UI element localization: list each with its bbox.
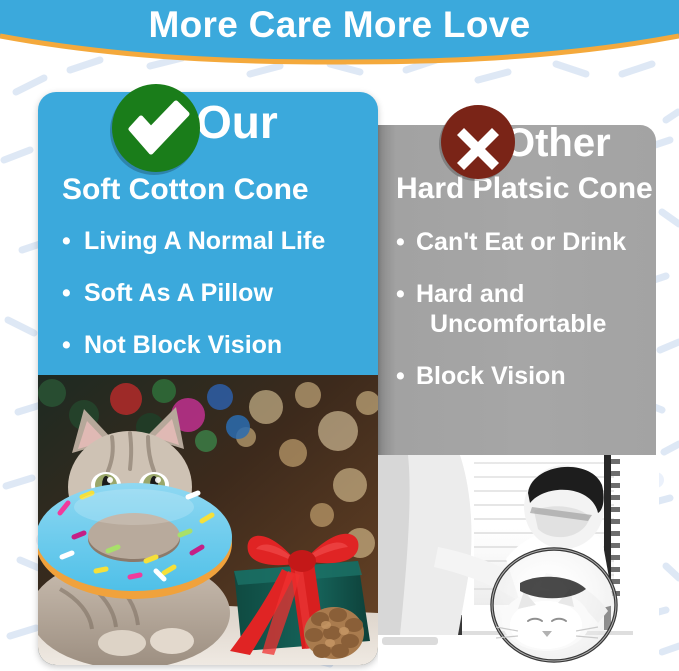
x-circle-icon (438, 103, 518, 183)
other-bullet-label-1: Hard and (416, 280, 524, 308)
list-item: Soft As A Pillow (62, 278, 364, 308)
our-panel-photo (38, 375, 378, 665)
our-bullet-label-0: Living A Normal Life (84, 227, 325, 255)
other-bullet-label-2: Uncomfortable (416, 309, 642, 339)
our-bullet-label-1: Soft As A Pillow (84, 279, 273, 307)
other-panel-photo (378, 455, 659, 671)
other-panel-heading: Hard Platsic Cone (396, 171, 642, 207)
list-item: Hard and Uncomfortable (396, 279, 642, 339)
our-panel-heading: Soft Cotton Cone (62, 172, 364, 208)
our-feature-list: Living A Normal Life Soft As A Pillow No… (62, 226, 364, 360)
our-panel: Soft Cotton Cone Living A Normal Life So… (38, 92, 378, 665)
list-item: Not Block Vision (62, 330, 364, 360)
list-item: Can't Eat or Drink (396, 227, 642, 257)
our-bullet-label-2: Not Block Vision (84, 331, 282, 359)
other-bullet-label-3: Block Vision (416, 362, 566, 390)
list-item: Living A Normal Life (62, 226, 364, 256)
comparison-infographic: More Care More Love Hard Platsic Cone Ca… (0, 0, 679, 671)
other-feature-list: Can't Eat or Drink Hard and Uncomfortabl… (396, 227, 642, 391)
our-badge-label: Our (196, 94, 278, 150)
page-title: More Care More Love (0, 3, 679, 47)
check-circle-icon (109, 81, 203, 175)
other-badge-label: Other (504, 119, 611, 167)
list-item: Block Vision (396, 361, 642, 391)
other-bullet-label-0: Can't Eat or Drink (416, 228, 626, 256)
